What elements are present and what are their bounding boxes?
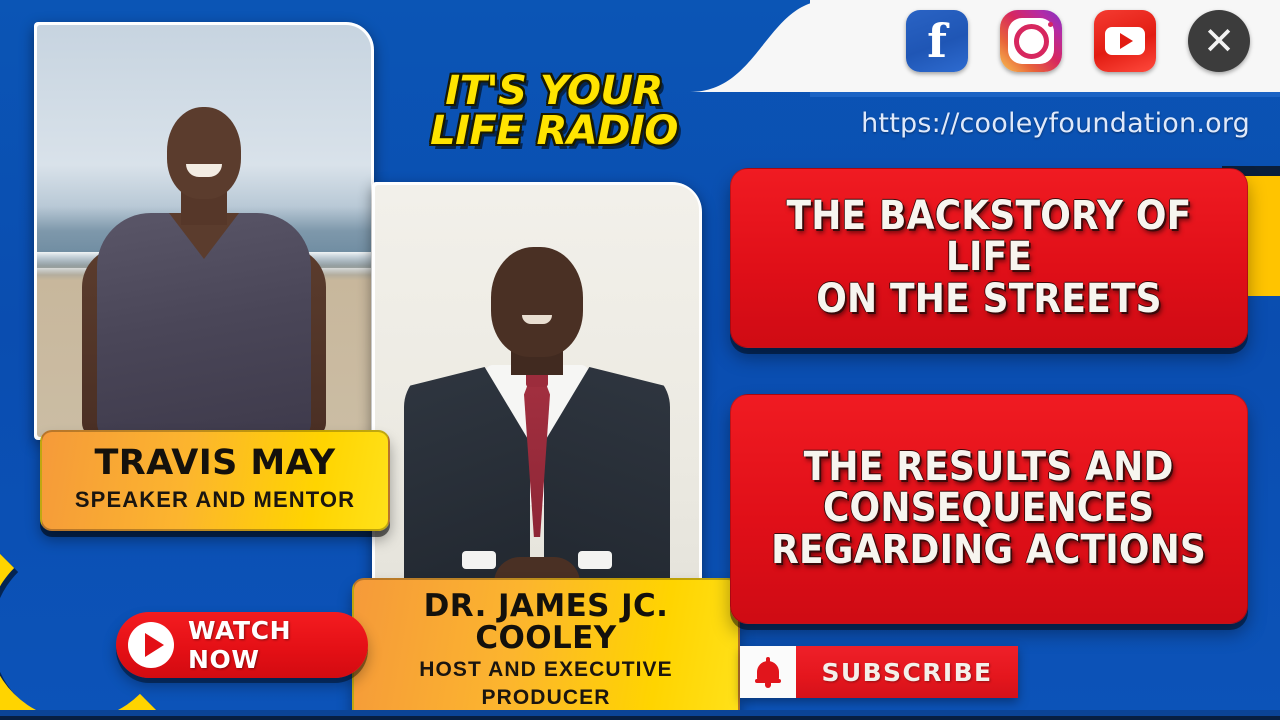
- travis-may-role: SPEAKER AND MENTOR: [50, 488, 380, 512]
- host-photo-dr-cooley-inner: [375, 185, 699, 619]
- header-bar-underline: [810, 92, 1280, 97]
- instagram-link[interactable]: [1000, 10, 1066, 76]
- bell-icon-box: [740, 646, 796, 698]
- topic-1-line-2: ON THE STREETS: [757, 279, 1221, 320]
- dr-cooley-figure: [396, 241, 678, 619]
- bell-body: [757, 661, 779, 681]
- topic-1-line-1: THE BACKSTORY OF LIFE: [757, 196, 1221, 278]
- topic-1-text: THE BACKSTORY OF LIFE ON THE STREETS: [757, 196, 1221, 320]
- show-title: IT'S YOUR LIFE RADIO: [418, 72, 690, 151]
- dr-cooley-role-line-1: HOST AND EXECUTIVE: [362, 658, 730, 681]
- nameplate-dr-cooley: DR. JAMES JC. COOLEY HOST AND EXECUTIVE …: [352, 578, 740, 720]
- instagram-icon: [1000, 10, 1062, 72]
- play-icon: [128, 622, 174, 668]
- dr-cooley-role-line-2: PRODUCER: [362, 686, 730, 709]
- show-title-line-2: LIFE RADIO: [418, 112, 690, 152]
- subscribe-button[interactable]: SUBSCRIBE: [740, 646, 1018, 698]
- youtube-play-triangle: [1120, 33, 1133, 49]
- subscribe-label: SUBSCRIBE: [796, 658, 1018, 687]
- host-photo-dr-cooley: [372, 182, 702, 622]
- x-twitter-link[interactable]: ✕: [1188, 10, 1254, 76]
- topic-2-line-3: REGARDING ACTIONS: [772, 530, 1207, 571]
- instagram-dot: [1048, 22, 1053, 27]
- watch-now-button[interactable]: WATCH NOW: [116, 612, 368, 678]
- facebook-link[interactable]: f: [906, 10, 972, 76]
- cooley-cuff-right: [578, 551, 612, 569]
- youtube-icon: [1094, 10, 1156, 72]
- instagram-inner: [1008, 18, 1054, 64]
- instagram-lens: [1014, 24, 1049, 59]
- facebook-icon: f: [906, 10, 968, 72]
- travis-may-name: TRAVIS MAY: [50, 445, 380, 481]
- watch-now-label: WATCH NOW: [188, 616, 368, 674]
- topic-2-text: THE RESULTS AND CONSEQUENCES REGARDING A…: [772, 447, 1207, 571]
- website-url[interactable]: https://cooleyfoundation.org: [861, 108, 1250, 139]
- cooley-smile: [522, 315, 552, 324]
- youtube-link[interactable]: [1094, 10, 1160, 76]
- x-twitter-icon: ✕: [1188, 10, 1250, 72]
- guest-photo-travis-may: [34, 22, 374, 440]
- podcast-promo-poster: f ✕ https://cooleyfo: [0, 0, 1280, 720]
- topic-2-line-2: CONSEQUENCES: [772, 488, 1207, 529]
- cooley-cuff-left: [462, 551, 496, 569]
- dr-cooley-name: DR. JAMES JC. COOLEY: [362, 590, 730, 654]
- topic-card-backstory: THE BACKSTORY OF LIFE ON THE STREETS: [730, 168, 1248, 348]
- show-title-line-1: IT'S YOUR: [418, 72, 690, 112]
- nameplate-travis-may: TRAVIS MAY SPEAKER AND MENTOR: [40, 430, 390, 531]
- bottom-dark-base: [0, 716, 1280, 720]
- bell-icon: [755, 657, 781, 687]
- youtube-screen: [1105, 27, 1145, 55]
- cooley-head: [491, 247, 583, 357]
- social-links-row: f ✕: [906, 10, 1254, 76]
- travis-may-figure: [84, 107, 324, 437]
- guest-photo-travis-may-inner: [37, 25, 371, 437]
- travis-head: [167, 107, 241, 199]
- x-glyph: ✕: [1203, 22, 1235, 60]
- bell-clapper: [765, 683, 771, 688]
- facebook-glyph: f: [927, 18, 947, 64]
- topic-2-line-1: THE RESULTS AND: [772, 447, 1207, 488]
- topic-card-consequences: THE RESULTS AND CONSEQUENCES REGARDING A…: [730, 394, 1248, 624]
